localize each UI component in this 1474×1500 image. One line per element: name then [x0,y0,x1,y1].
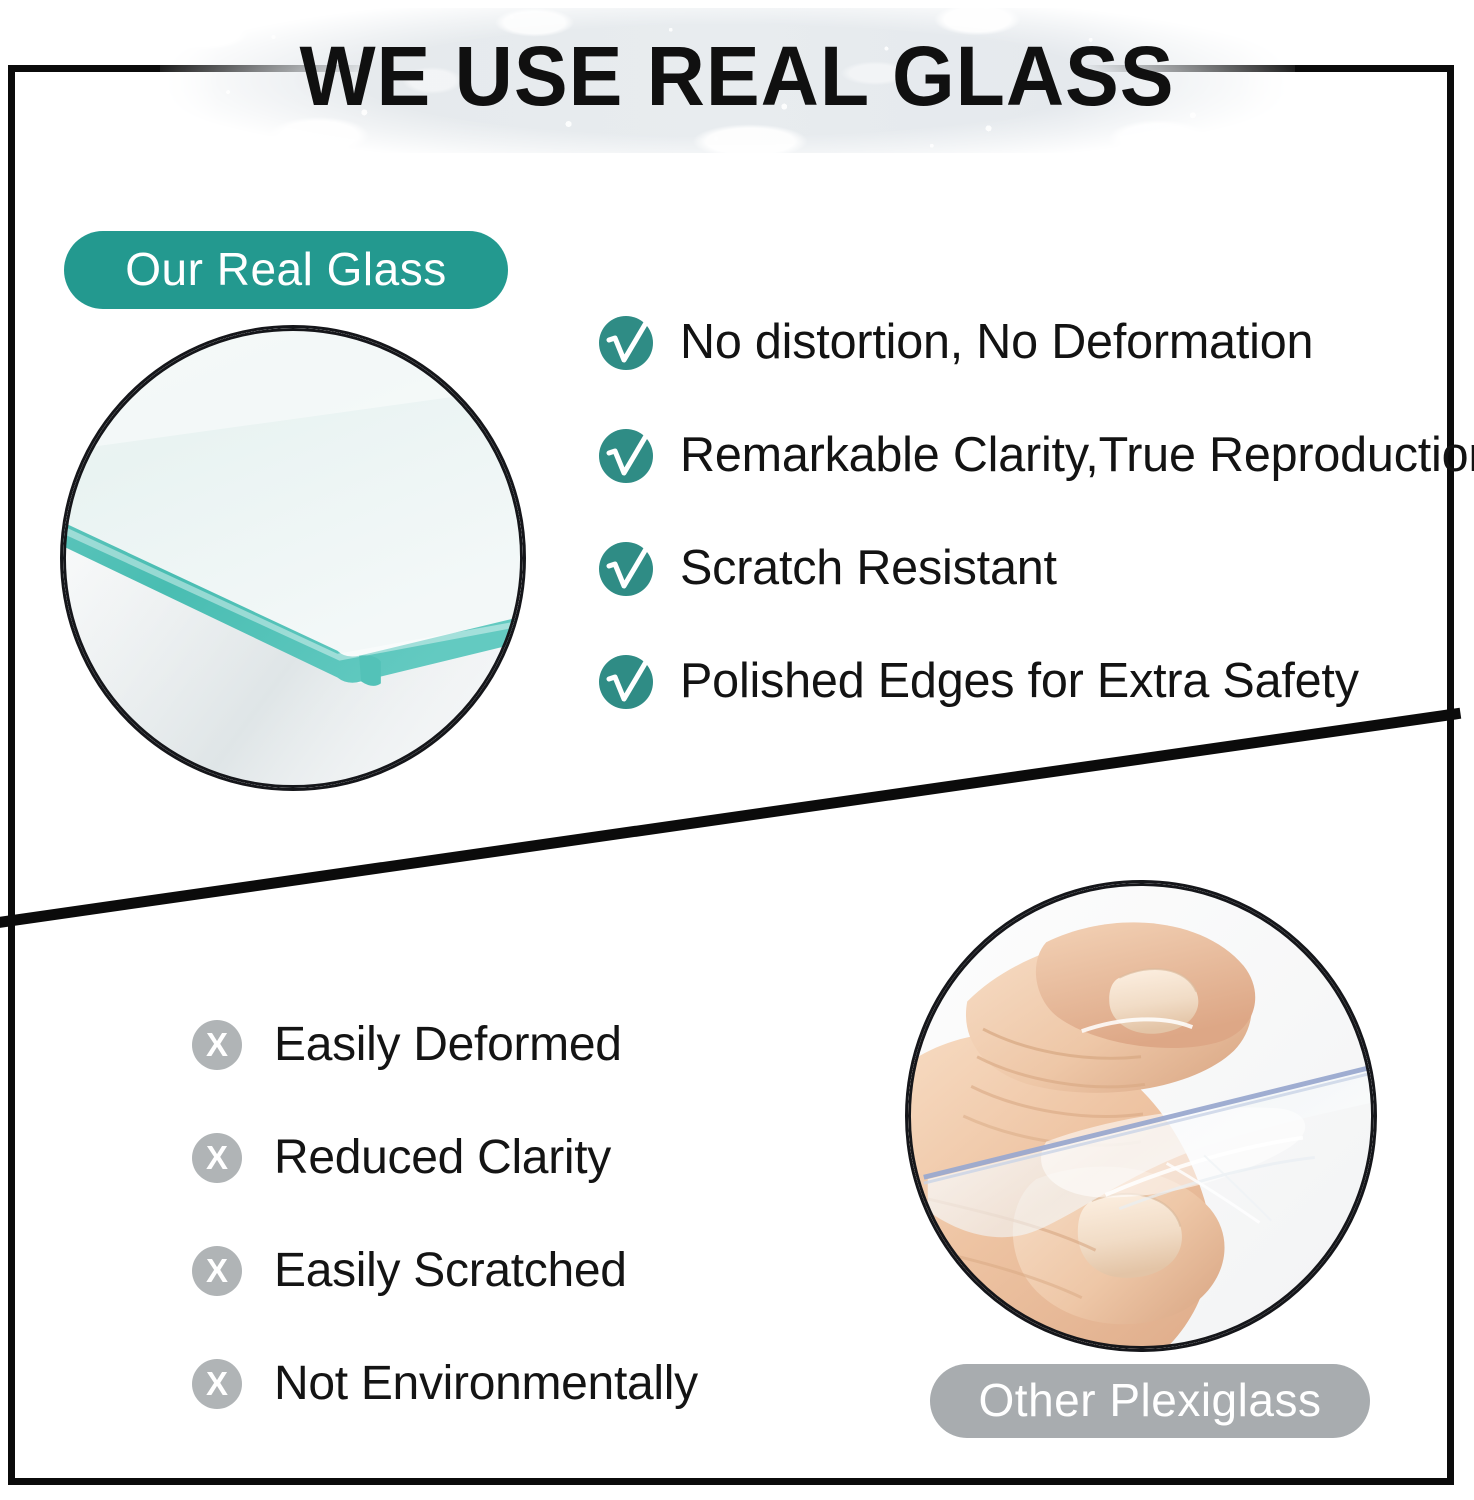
plexiglass-photo [905,880,1377,1352]
drawback-label: Not Environmentally [274,1357,698,1411]
real-glass-photo [60,325,526,791]
check-circle-icon [598,539,656,597]
check-circle-icon [598,313,656,371]
badge-other-plexiglass: Other Plexiglass [930,1364,1370,1438]
benefit-item: Scratch Resistant [598,511,1458,624]
drawback-label: Easily Deformed [274,1018,622,1072]
benefit-label: No distortion, No Deformation [680,315,1313,369]
infographic-canvas: WE USE REAL GLASS Our Real Glass [0,0,1474,1500]
drawback-item: X Not Environmentally [192,1327,832,1440]
x-circle-icon: X [192,1133,242,1183]
benefit-item: Remarkable Clarity,True Reproduction [598,398,1458,511]
drawback-item: X Easily Scratched [192,1214,832,1327]
badge-our-real-glass: Our Real Glass [64,231,508,309]
drawback-label: Easily Scratched [274,1244,627,1298]
check-circle-icon [598,652,656,710]
x-glyph: X [206,1028,228,1061]
benefit-label: Remarkable Clarity,True Reproduction [680,428,1474,482]
x-glyph: X [206,1254,228,1287]
real-glass-benefits-list: No distortion, No Deformation Remarkable… [598,285,1458,737]
page-title: WE USE REAL GLASS [29,28,1444,124]
benefit-label: Scratch Resistant [680,541,1057,595]
x-circle-icon: X [192,1359,242,1409]
x-circle-icon: X [192,1020,242,1070]
x-circle-icon: X [192,1246,242,1296]
drawback-item: X Reduced Clarity [192,1101,832,1214]
benefit-item: No distortion, No Deformation [598,285,1458,398]
x-glyph: X [206,1367,228,1400]
benefit-label: Polished Edges for Extra Safety [680,654,1359,708]
benefit-item: Polished Edges for Extra Safety [598,624,1458,737]
check-circle-icon [598,426,656,484]
drawback-item: X Easily Deformed [192,988,832,1101]
plexiglass-drawbacks-list: X Easily Deformed X Reduced Clarity X Ea… [192,988,832,1440]
x-glyph: X [206,1141,228,1174]
drawback-label: Reduced Clarity [274,1131,611,1185]
